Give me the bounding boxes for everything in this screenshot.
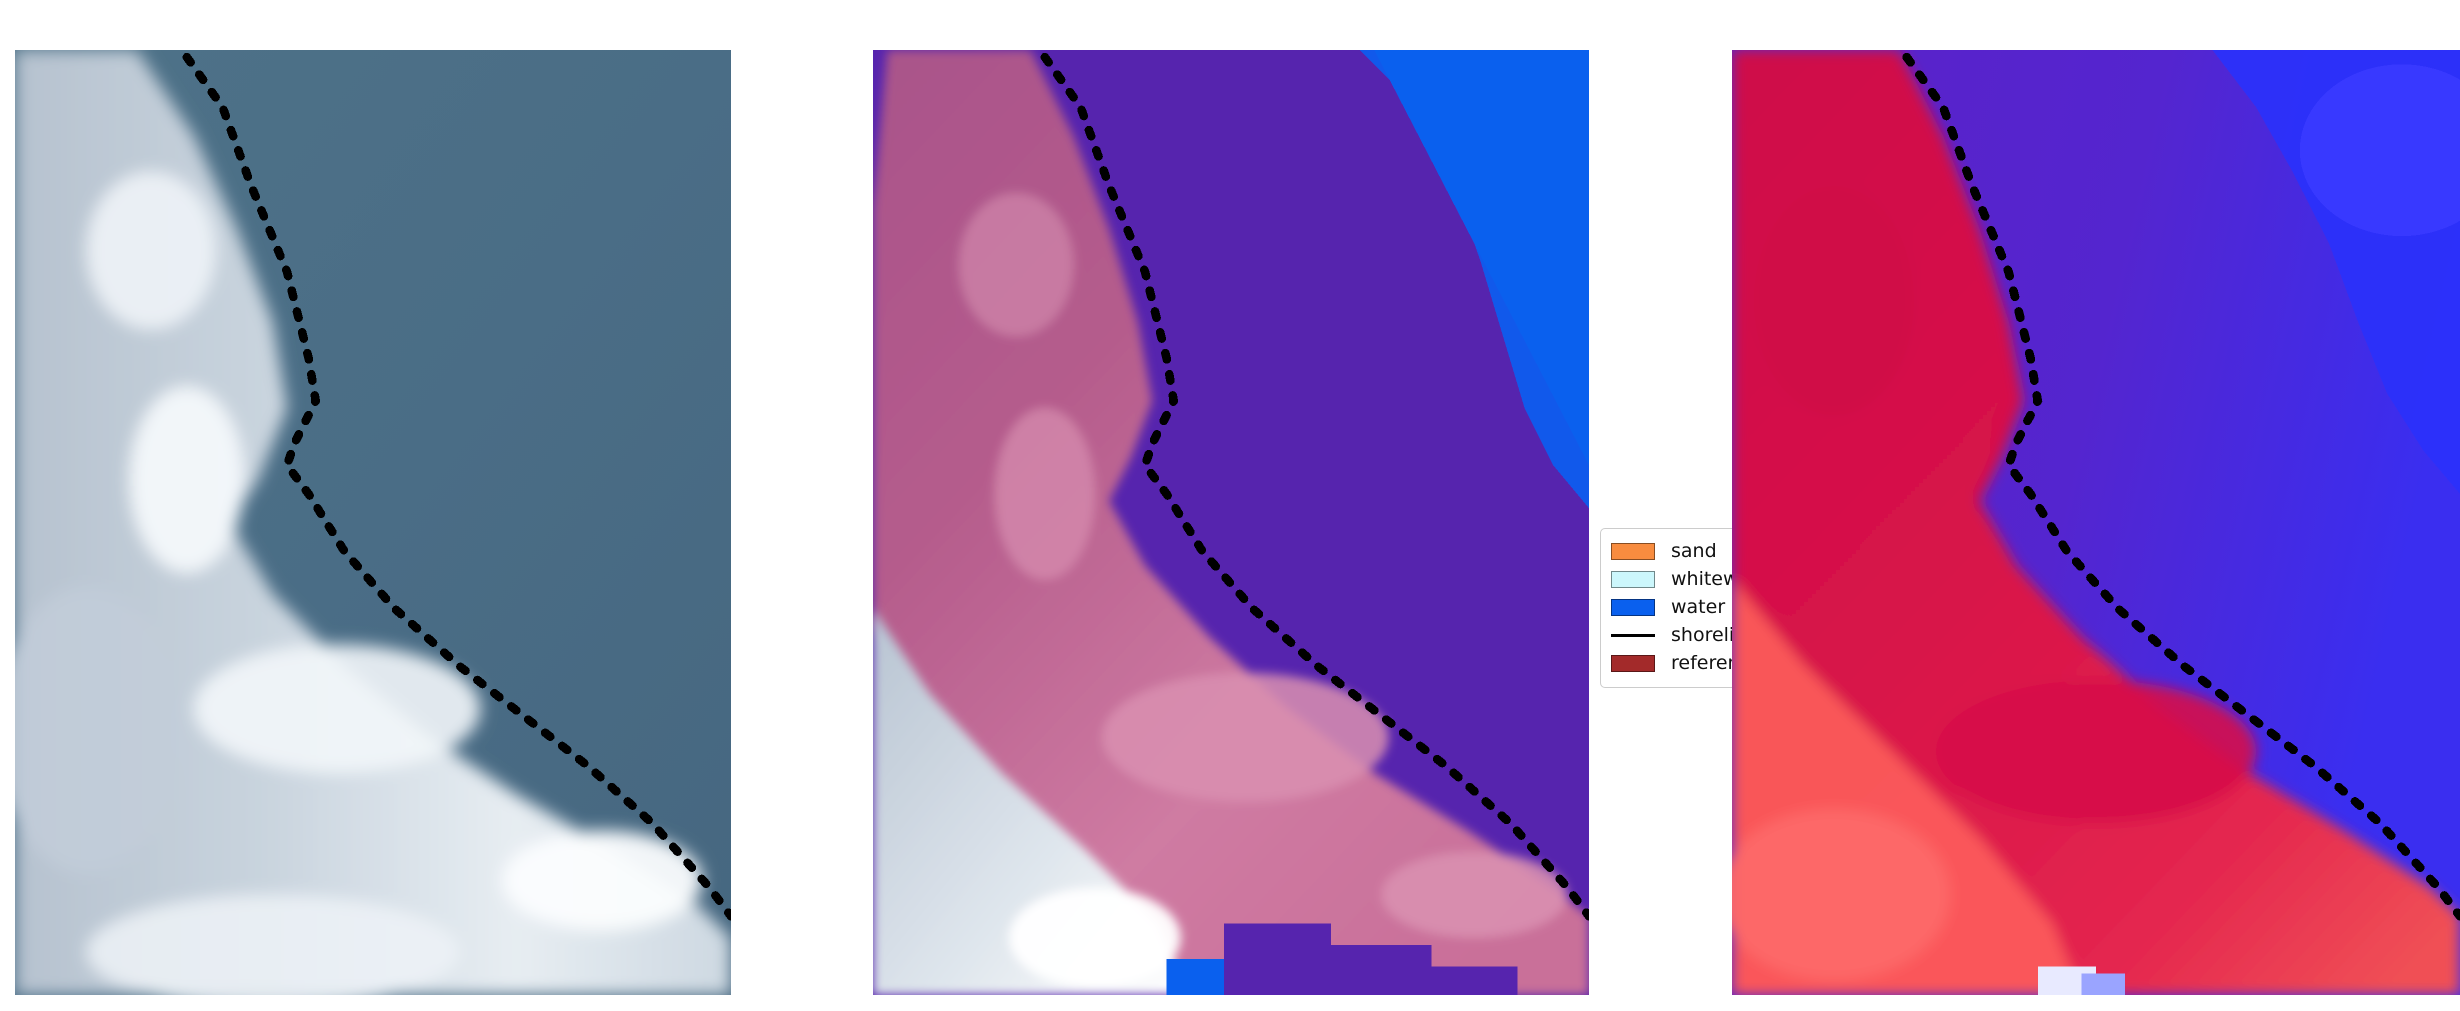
sar-image-canvas [15, 50, 731, 995]
legend-swatch-whitewater [1611, 571, 1655, 588]
legend-swatch-reference [1611, 655, 1655, 672]
classified-image-canvas [873, 50, 1589, 995]
legend-label-sand: sand [1671, 540, 1717, 562]
l5-image-canvas [1732, 50, 2460, 995]
legend-swatch-shoreline [1611, 634, 1655, 637]
legend-swatch-sand [1611, 543, 1655, 560]
panel-classified-image: 1997-03-23-09-33-01 [873, 50, 1589, 995]
legend-swatch-water [1611, 599, 1655, 616]
panel-sar-image: sar0887 [15, 50, 731, 995]
legend-label-water: water [1671, 596, 1725, 618]
figure-canvas: sar0887 [0, 0, 2460, 1011]
panel-l5-image: L5 [1732, 50, 2460, 995]
